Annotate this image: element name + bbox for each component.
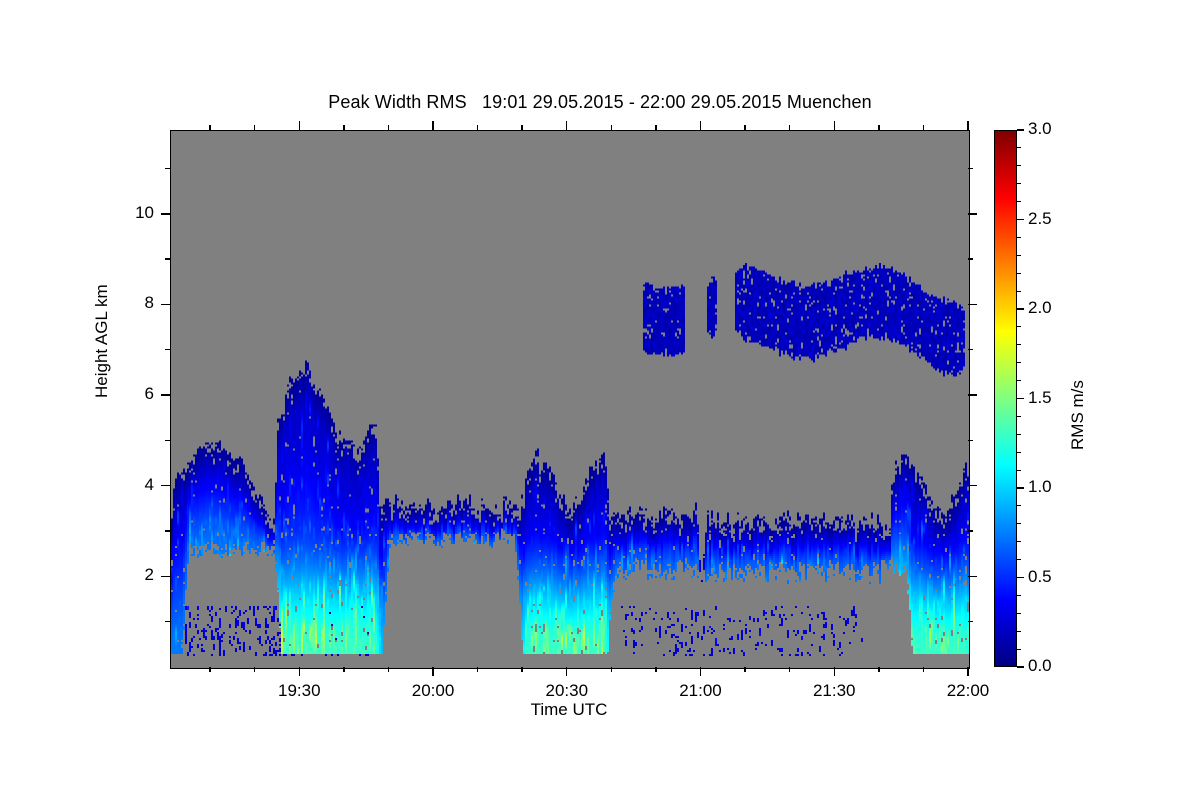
colorbar-tick-major — [1017, 308, 1024, 309]
figure-canvas: Peak Width RMS 19:01 29.05.2015 - 22:00 … — [0, 0, 1200, 800]
colorbar-tick-minor — [1017, 541, 1021, 542]
colorbar-tick-label: 1.0 — [1028, 477, 1052, 497]
y-axis-tick-minor — [165, 168, 170, 169]
x-axis-tick-major-top — [299, 121, 300, 130]
y-axis-tick-minor — [165, 258, 170, 259]
colorbar-tick-minor — [1017, 595, 1021, 596]
heatmap-data-image — [171, 131, 969, 668]
y-axis-tick-minor — [165, 440, 170, 441]
x-axis-tick-label: 19:30 — [254, 681, 344, 701]
y-axis-tick-minor — [165, 621, 170, 622]
x-axis-tick-major — [299, 667, 300, 676]
colorbar-tick-minor — [1017, 147, 1021, 148]
x-axis-tick-label: 21:30 — [789, 681, 879, 701]
y-axis-label: Height AGL km — [92, 284, 112, 398]
y-axis-tick-minor-right — [968, 530, 973, 531]
colorbar-tick-minor — [1017, 344, 1021, 345]
y-axis-tick-major-right — [968, 576, 977, 577]
colorbar-tick-minor — [1017, 237, 1021, 238]
x-axis-tick-minor-top — [388, 125, 389, 130]
colorbar-label: RMS m/s — [1068, 380, 1088, 450]
colorbar-tick-label: 2.0 — [1028, 298, 1052, 318]
colorbar-tick-minor — [1017, 326, 1021, 327]
x-axis-tick-minor-top — [343, 125, 344, 130]
colorbar-tick-minor — [1017, 452, 1021, 453]
colorbar-tick-label: 3.0 — [1028, 119, 1052, 139]
y-axis-tick-major — [161, 576, 170, 577]
y-axis-tick-minor-right — [968, 168, 973, 169]
colorbar-tick-minor — [1017, 165, 1021, 166]
y-axis-tick-label: 10 — [104, 203, 154, 223]
x-axis-tick-minor — [209, 667, 210, 672]
x-axis-tick-minor — [477, 667, 478, 672]
x-axis-tick-major-top — [700, 121, 701, 130]
y-axis-tick-minor — [165, 349, 170, 350]
y-axis-tick-label: 2 — [104, 565, 154, 585]
x-axis-tick-minor — [923, 667, 924, 672]
page-title: Peak Width RMS 19:01 29.05.2015 - 22:00 … — [0, 92, 1200, 113]
x-axis-tick-minor-top — [477, 125, 478, 130]
x-axis-tick-major — [566, 667, 567, 676]
colorbar-tick-minor — [1017, 505, 1021, 506]
x-axis-tick-major-top — [834, 121, 835, 130]
x-axis-tick-minor-top — [254, 125, 255, 130]
colorbar-tick-major — [1017, 487, 1024, 488]
colorbar-tick-minor — [1017, 255, 1021, 256]
y-axis-tick-label: 4 — [104, 475, 154, 495]
y-axis-tick-minor-right — [968, 258, 973, 259]
colorbar-tick-minor — [1017, 631, 1021, 632]
colorbar-tick-minor — [1017, 380, 1021, 381]
y-axis-tick-major-right — [968, 213, 977, 214]
x-axis-tick-major-top — [432, 121, 433, 130]
x-axis-tick-major — [432, 667, 433, 676]
x-axis-tick-minor-top — [209, 125, 210, 130]
x-axis-tick-minor-top — [878, 125, 879, 130]
colorbar-tick-minor — [1017, 523, 1021, 524]
y-axis-tick-major-right — [968, 304, 977, 305]
colorbar-tick-label: 0.5 — [1028, 567, 1052, 587]
colorbar-tick-minor — [1017, 559, 1021, 560]
x-axis-tick-minor — [655, 667, 656, 672]
x-axis-tick-minor — [521, 667, 522, 672]
x-axis-tick-major — [967, 667, 968, 676]
x-axis-tick-minor-top — [611, 125, 612, 130]
colorbar-tick-major — [1017, 666, 1024, 667]
x-axis-tick-minor-top — [744, 125, 745, 130]
colorbar-tick-label: 2.5 — [1028, 209, 1052, 229]
colorbar-gradient — [994, 130, 1017, 667]
colorbar-tick-major — [1017, 219, 1024, 220]
x-axis-tick-label: 20:00 — [388, 681, 478, 701]
colorbar-tick-major — [1017, 129, 1024, 130]
colorbar-tick-major — [1017, 577, 1024, 578]
heatmap-plot-area[interactable] — [170, 130, 970, 669]
x-axis-tick-minor-top — [521, 125, 522, 130]
x-axis-tick-minor — [343, 667, 344, 672]
x-axis-tick-minor — [254, 667, 255, 672]
x-axis-tick-minor — [878, 667, 879, 672]
x-axis-tick-minor-top — [923, 125, 924, 130]
y-axis-tick-minor — [165, 530, 170, 531]
colorbar-tick-minor — [1017, 613, 1021, 614]
y-axis-tick-major — [161, 485, 170, 486]
x-axis-tick-label: 22:00 — [923, 681, 1013, 701]
x-axis-tick-minor — [388, 667, 389, 672]
x-axis-tick-minor — [744, 667, 745, 672]
y-axis-tick-major — [161, 304, 170, 305]
colorbar-tick-minor — [1017, 649, 1021, 650]
colorbar-tick-minor — [1017, 291, 1021, 292]
y-axis-tick-major — [161, 213, 170, 214]
x-axis-tick-minor-top — [789, 125, 790, 130]
y-axis-tick-major-right — [968, 394, 977, 395]
x-axis-tick-major-top — [967, 121, 968, 130]
colorbar-tick-minor — [1017, 273, 1021, 274]
x-axis-tick-major — [834, 667, 835, 676]
colorbar[interactable] — [994, 130, 1017, 667]
colorbar-tick-minor — [1017, 362, 1021, 363]
x-axis-tick-major-top — [566, 121, 567, 130]
colorbar-tick-minor — [1017, 434, 1021, 435]
x-axis-label: Time UTC — [170, 700, 968, 720]
y-axis-tick-minor-right — [968, 621, 973, 622]
colorbar-tick-label: 1.5 — [1028, 388, 1052, 408]
x-axis-tick-minor — [611, 667, 612, 672]
colorbar-tick-minor — [1017, 201, 1021, 202]
y-axis-tick-major — [161, 394, 170, 395]
x-axis-tick-label: 21:00 — [656, 681, 746, 701]
x-axis-tick-minor — [789, 667, 790, 672]
y-axis-tick-minor-right — [968, 440, 973, 441]
x-axis-tick-major — [700, 667, 701, 676]
x-axis-tick-label: 20:30 — [522, 681, 612, 701]
x-axis-tick-minor-top — [655, 125, 656, 130]
colorbar-tick-major — [1017, 398, 1024, 399]
colorbar-tick-label: 0.0 — [1028, 656, 1052, 676]
colorbar-tick-minor — [1017, 183, 1021, 184]
colorbar-tick-minor — [1017, 470, 1021, 471]
y-axis-tick-major-right — [968, 485, 977, 486]
y-axis-tick-minor-right — [968, 349, 973, 350]
colorbar-tick-minor — [1017, 416, 1021, 417]
